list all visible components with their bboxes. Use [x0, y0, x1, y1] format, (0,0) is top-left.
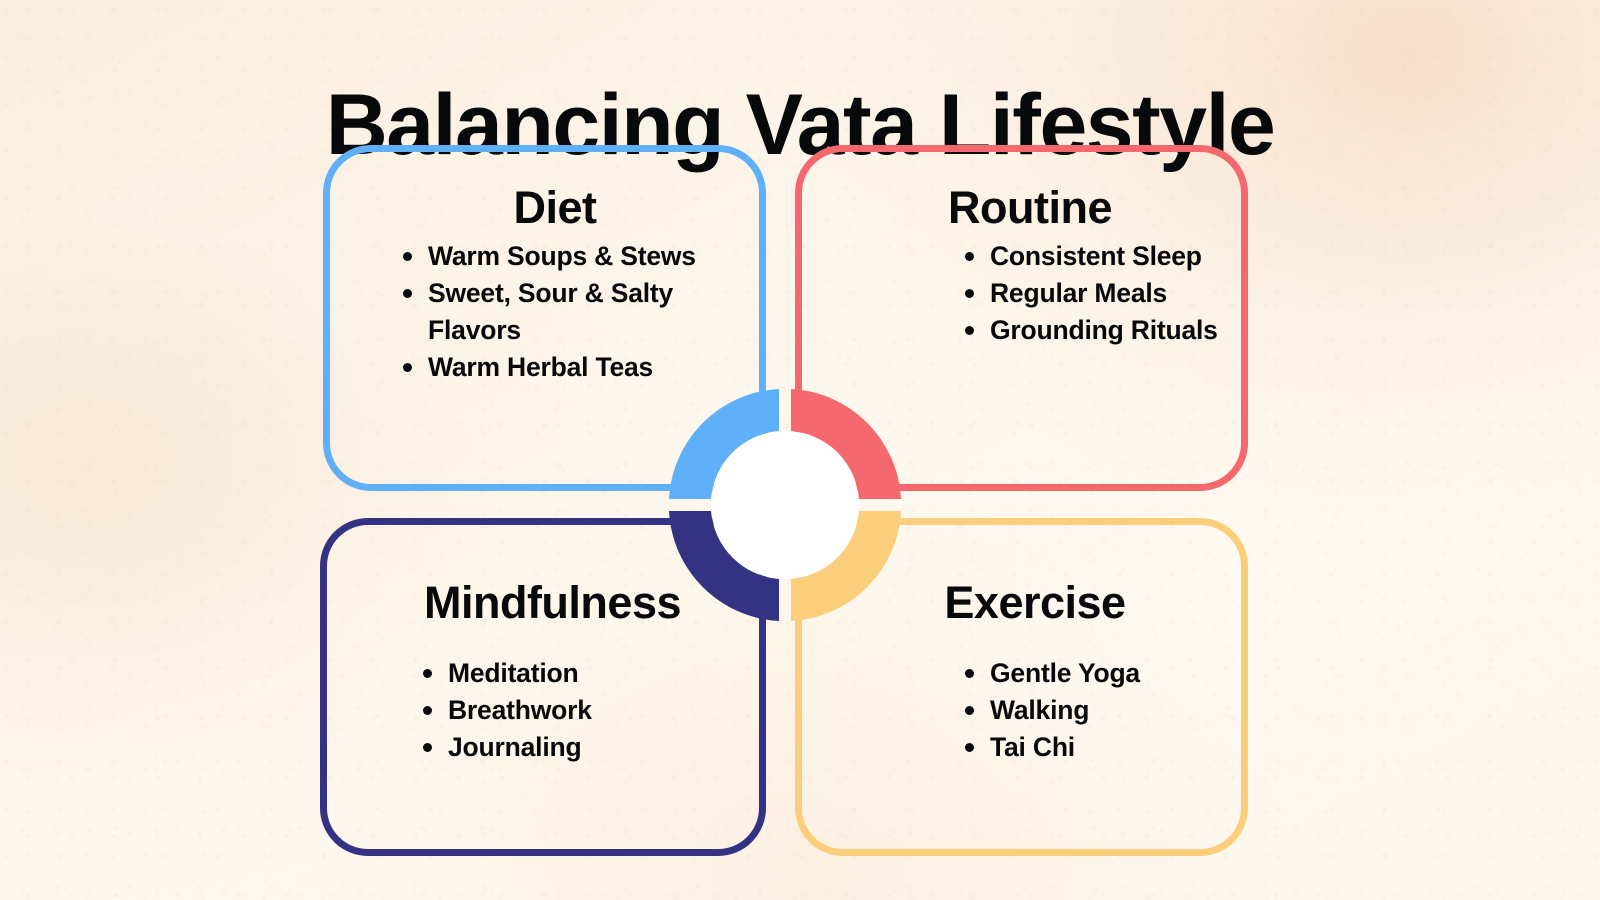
list-item: Tai Chi	[961, 729, 1240, 766]
list-item: Consistent Sleep	[961, 238, 1230, 275]
quadrant-card-exercise[interactable]: Exercise Gentle Yoga Walking Tai Chi	[795, 518, 1248, 856]
bullet-icon	[403, 252, 412, 261]
quadrant-card-diet[interactable]: Diet Warm Soups & Stews Sweet, Sour & Sa…	[323, 145, 766, 491]
list-item: Breathwork	[419, 692, 760, 729]
bullet-icon	[965, 252, 974, 261]
bullet-icon	[965, 289, 974, 298]
bullet-icon	[423, 743, 432, 752]
list-item-label: Walking	[990, 695, 1089, 725]
quadrant-content-exercise: Exercise Gentle Yoga Walking Tai Chi	[830, 577, 1240, 766]
quadrant-list-routine: Consistent Sleep Regular Meals Grounding…	[830, 238, 1230, 349]
quadrant-content-mindfulness: Mindfulness Meditation Breathwork Journa…	[345, 577, 760, 766]
bullet-icon	[965, 669, 974, 678]
quadrant-content-routine: Routine Consistent Sleep Regular Meals G…	[830, 182, 1230, 349]
list-item: Warm Soups & Stews	[399, 238, 755, 275]
bullet-icon	[965, 706, 974, 715]
list-item-label: Warm Herbal Teas	[428, 352, 653, 382]
list-item: Gentle Yoga	[961, 655, 1240, 692]
list-item-label: Gentle Yoga	[990, 658, 1140, 688]
list-item-label: Consistent Sleep	[990, 241, 1202, 271]
quadrant-list-diet: Warm Soups & Stews Sweet, Sour & Salty F…	[355, 238, 755, 386]
list-item: Regular Meals	[961, 275, 1230, 312]
quadrant-content-diet: Diet Warm Soups & Stews Sweet, Sour & Sa…	[355, 182, 755, 386]
list-item: Warm Herbal Teas	[399, 349, 755, 386]
bullet-icon	[965, 743, 974, 752]
quadrant-list-exercise: Gentle Yoga Walking Tai Chi	[830, 633, 1240, 766]
quadrant-card-mindfulness[interactable]: Mindfulness Meditation Breathwork Journa…	[320, 518, 766, 856]
list-item-label: Regular Meals	[990, 278, 1167, 308]
quadrant-heading-exercise: Exercise	[830, 577, 1240, 629]
list-item: Meditation	[419, 655, 760, 692]
quadrant-heading-routine: Routine	[830, 182, 1230, 234]
list-item-label: Sweet, Sour & Salty Flavors	[428, 278, 673, 345]
list-item: Sweet, Sour & Salty Flavors	[399, 275, 755, 349]
quadrant-list-mindfulness: Meditation Breathwork Journaling	[345, 633, 760, 766]
list-item: Journaling	[419, 729, 760, 766]
bullet-icon	[423, 706, 432, 715]
bullet-icon	[965, 326, 974, 335]
list-item: Walking	[961, 692, 1240, 729]
quadrant-heading-mindfulness: Mindfulness	[345, 577, 760, 629]
list-item-label: Warm Soups & Stews	[428, 241, 696, 271]
bullet-icon	[423, 669, 432, 678]
bullet-icon	[403, 289, 412, 298]
page-title: Balancing Vata Lifestyle	[0, 72, 1600, 180]
quadrant-heading-diet: Diet	[355, 182, 755, 234]
list-item-label: Meditation	[448, 658, 579, 688]
quadrant-card-routine[interactable]: Routine Consistent Sleep Regular Meals G…	[795, 145, 1248, 491]
infographic-canvas: Balancing Vata Lifestyle Diet Warm Soups…	[0, 0, 1600, 900]
bullet-icon	[403, 363, 412, 372]
list-item-label: Journaling	[448, 732, 581, 762]
list-item-label: Grounding Rituals	[990, 315, 1218, 345]
list-item-label: Breathwork	[448, 695, 592, 725]
list-item-label: Tai Chi	[990, 732, 1075, 762]
list-item: Grounding Rituals	[961, 312, 1230, 349]
